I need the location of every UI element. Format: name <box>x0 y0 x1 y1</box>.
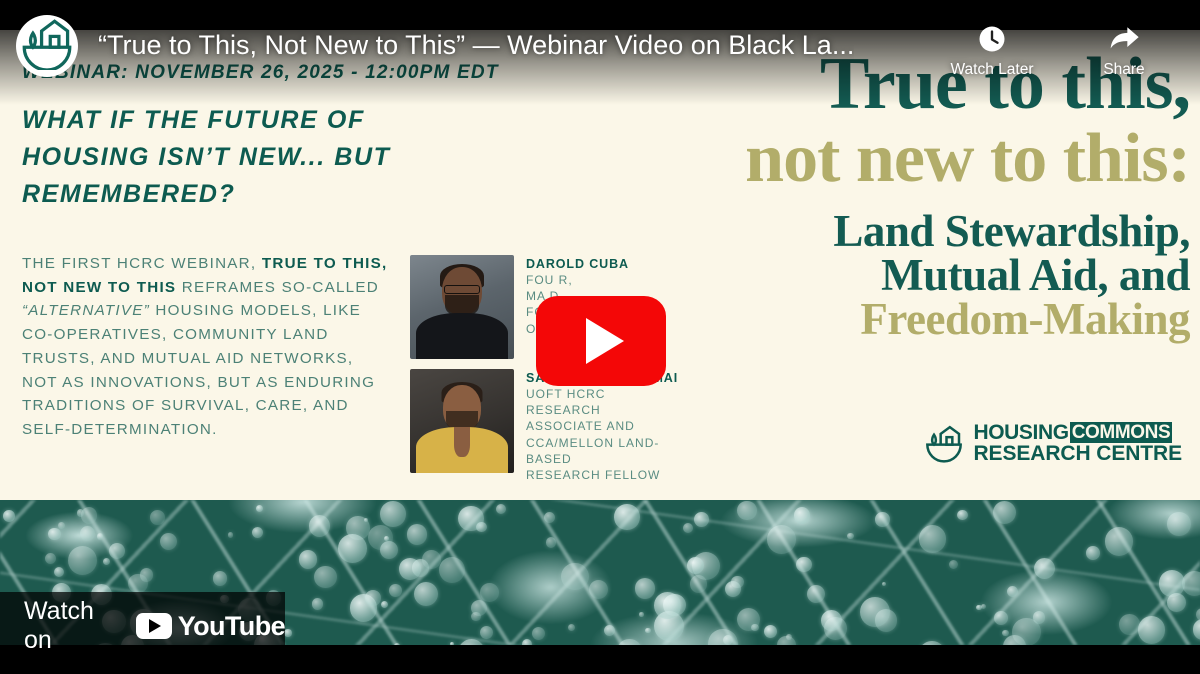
hero-line-2: not new to this: <box>510 125 1190 194</box>
portrait-body <box>416 427 508 473</box>
hcrc-house-leaf-mark-icon <box>924 423 964 463</box>
youtube-logo: YouTube <box>136 611 285 642</box>
webinar-date: WEBINAR: NOVEMBER 26, 2025 - 12:00PM EDT <box>22 62 499 84</box>
hcrc-word-commons: COMMONS <box>1070 422 1173 443</box>
hcrc-line-2: RESEARCH CENTRE <box>973 442 1182 465</box>
youtube-play-badge-icon <box>136 613 172 639</box>
hcrc-house-leaf-logo-icon <box>21 18 73 75</box>
hcrc-line-1: HOUSINGCOMMONS <box>973 422 1182 443</box>
watch-on-youtube-button[interactable]: Watch on YouTube <box>0 592 285 660</box>
channel-avatar[interactable] <box>16 15 78 77</box>
poster-headline: WHAT IF THE FUTURE OF HOUSING ISN’T NEW.… <box>22 102 422 213</box>
watch-later-label: Watch Later <box>951 61 1034 79</box>
speaker-role: UOFT HCRC RESEARCH ASSOCIATE AND CCA/MEL… <box>526 386 680 483</box>
watch-on-label: Watch on <box>24 597 118 655</box>
blurb-part3: HOUSING MODELS, LIKE CO-OPERATIVES, COMM… <box>22 302 375 438</box>
youtube-player[interactable]: WEBINAR: NOVEMBER 26, 2025 - 12:00PM EDT… <box>0 0 1200 674</box>
speaker-item: SAM CARTER-SHAMAI UOFT HCRC RESEARCH ASS… <box>410 369 680 483</box>
poster-blurb: THE FIRST HCRC WEBINAR, TRUE TO THIS, NO… <box>22 252 394 442</box>
blurb-lead: THE FIRST HCRC WEBINAR, <box>22 255 256 272</box>
youtube-wordmark: YouTube <box>178 611 285 642</box>
blurb-part2: REFRAMES SO-CALLED <box>176 279 379 296</box>
hcrc-word-housing: HOUSING <box>973 422 1068 443</box>
glasses-icon <box>444 285 480 294</box>
clock-icon <box>977 22 1007 56</box>
speaker-portrait-darold-cuba <box>410 255 514 359</box>
speaker-portrait-sam-carter-shamai <box>410 369 514 473</box>
hero-line-3: Land Stewardship, <box>510 209 1190 253</box>
share-arrow-icon <box>1108 22 1140 56</box>
watch-later-button[interactable]: Watch Later <box>944 22 1040 79</box>
hero-line-4: Mutual Aid, and <box>510 253 1190 297</box>
share-label: Share <box>1103 61 1144 79</box>
portrait-body <box>416 313 508 359</box>
play-icon <box>586 318 624 364</box>
play-button[interactable] <box>536 296 666 386</box>
video-title[interactable]: “True to This, Not New to This” — Webina… <box>98 30 854 61</box>
share-button[interactable]: Share <box>1076 22 1172 79</box>
hcrc-wordmark: HOUSINGCOMMONS RESEARCH CENTRE <box>973 422 1182 465</box>
hcrc-logo: HOUSINGCOMMONS RESEARCH CENTRE <box>924 422 1182 465</box>
speaker-text: SAM CARTER-SHAMAI UOFT HCRC RESEARCH ASS… <box>526 369 680 483</box>
blurb-quoted: “ALTERNATIVE” <box>22 302 150 319</box>
